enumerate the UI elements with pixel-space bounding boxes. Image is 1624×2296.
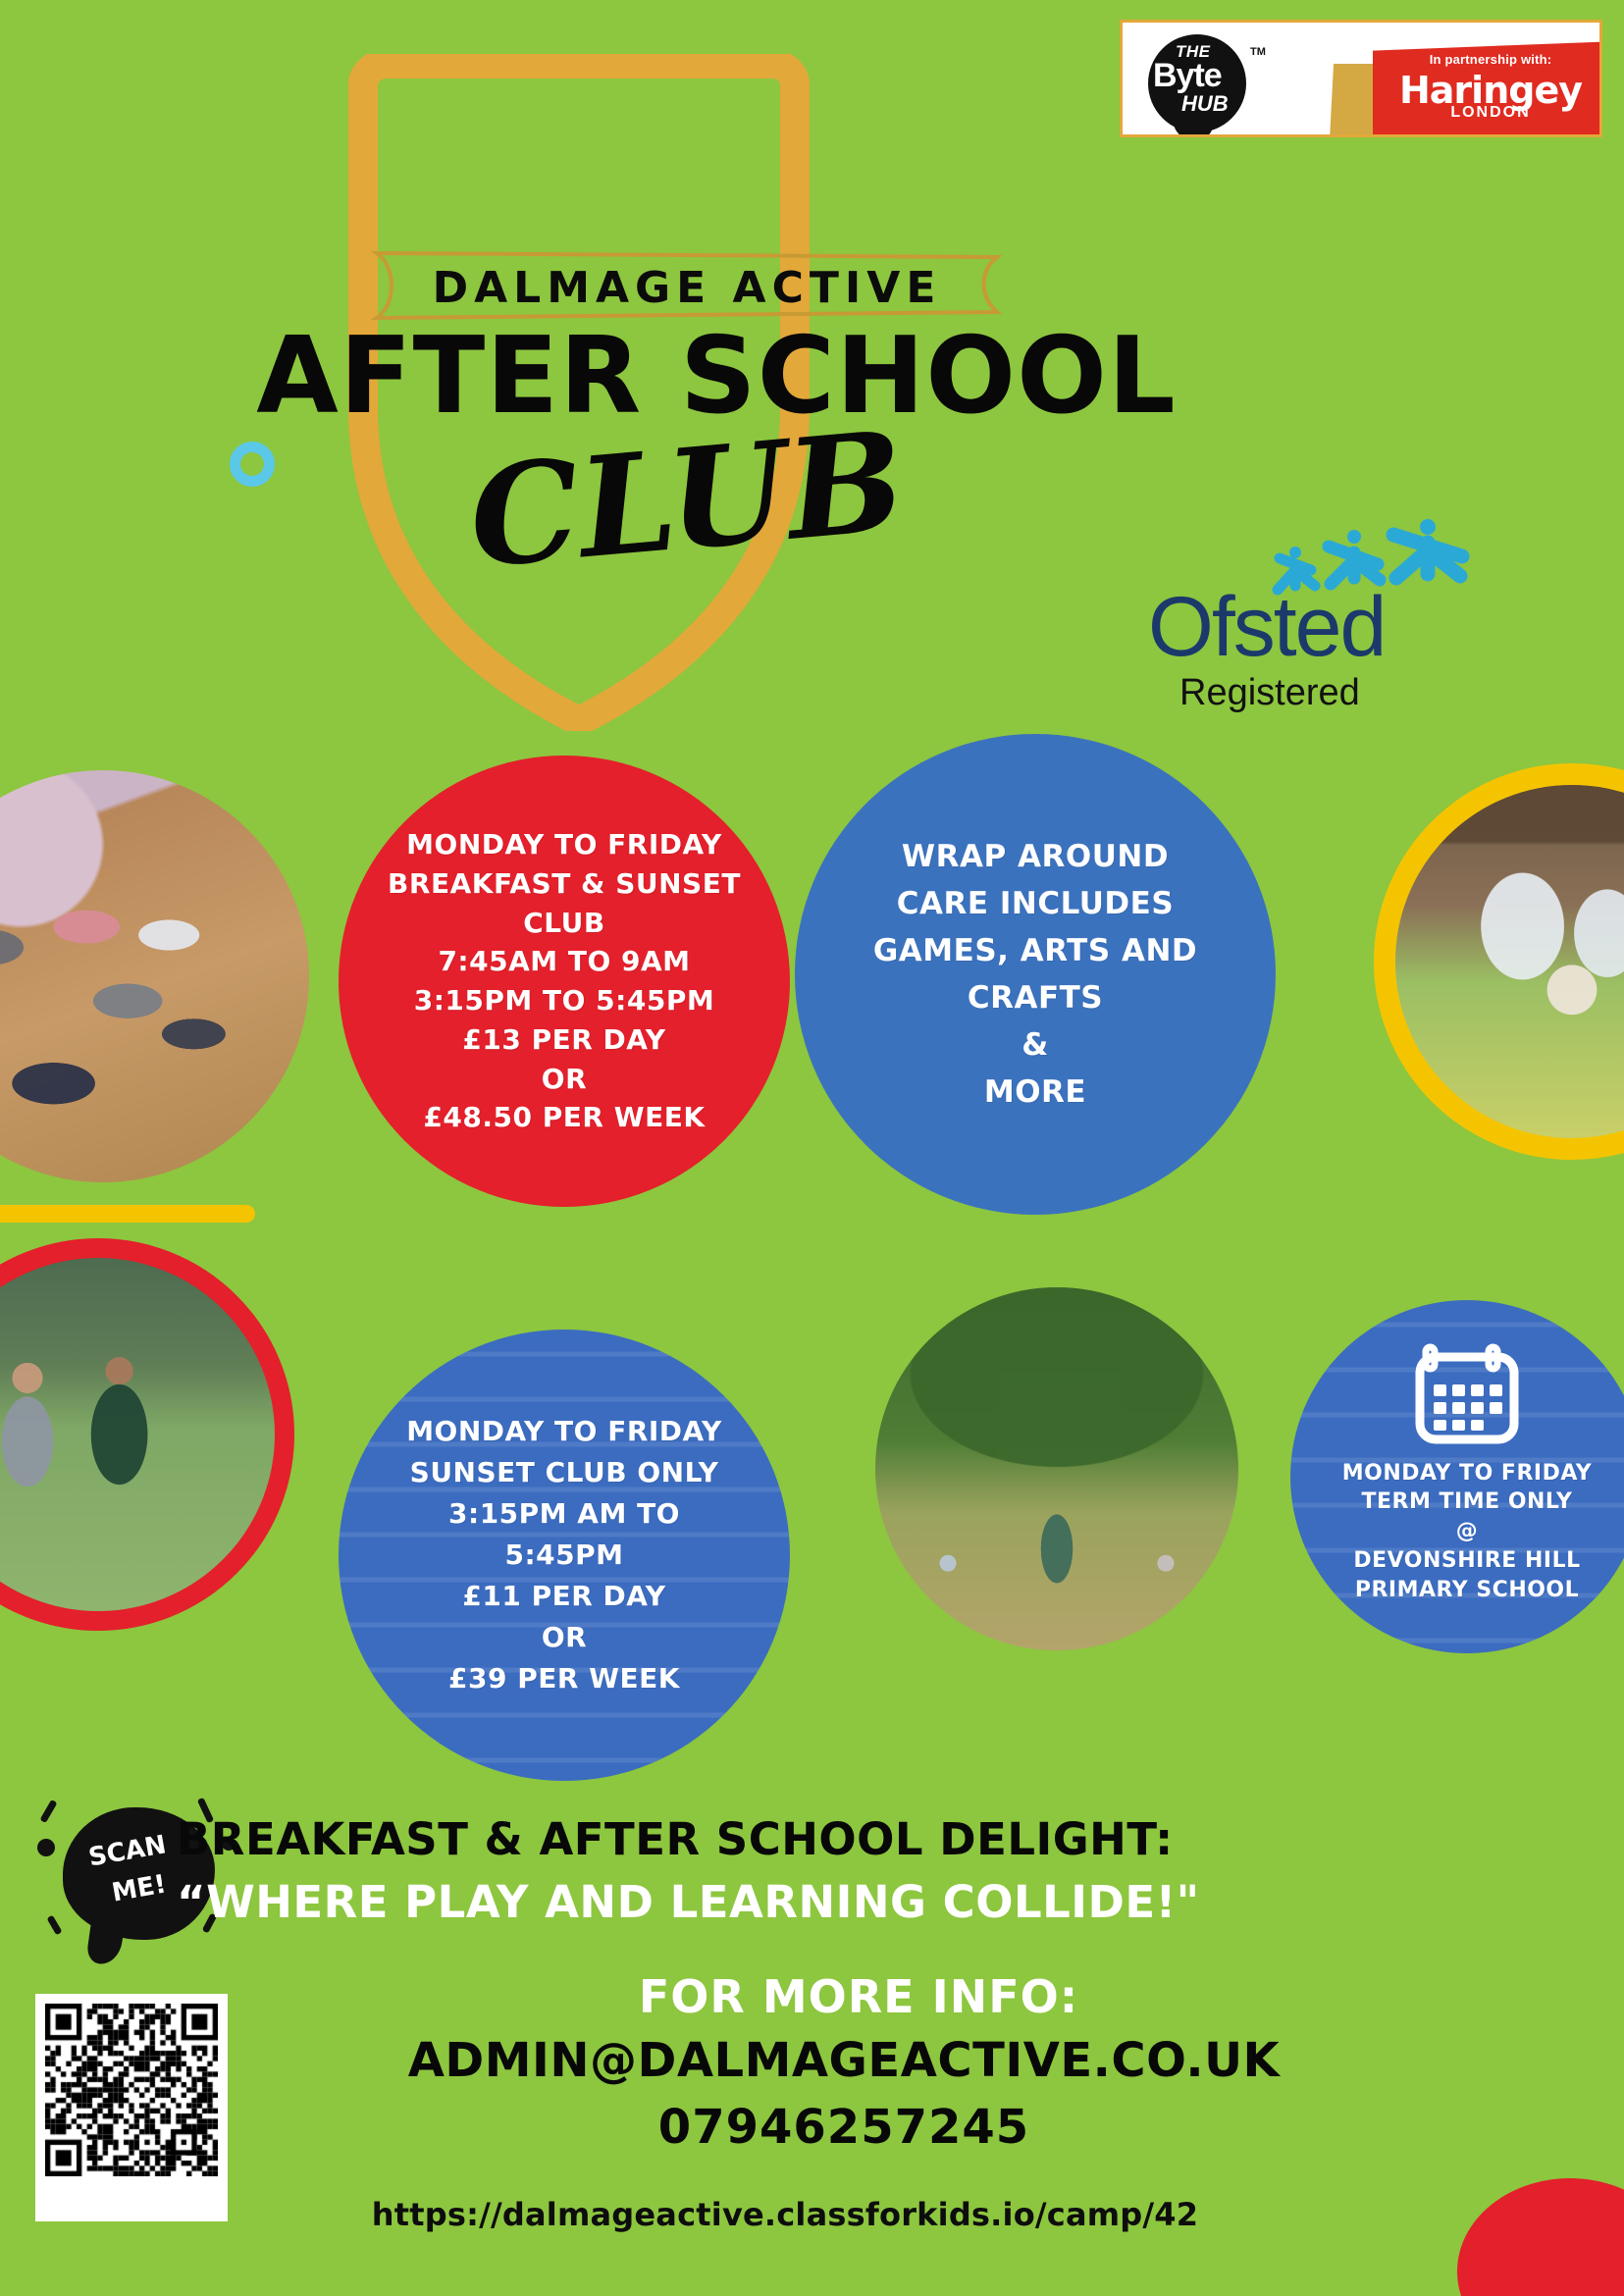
more-info-label: FOR MORE INFO: [294,1970,1423,2023]
trademark-icon: TM [1250,46,1266,58]
byte-hub-hub-text: HUB [1181,91,1229,117]
info-line: OR [388,1060,741,1099]
ofsted-registered-logo: Ofsted Registered [1148,525,1472,711]
partner-logo-bar: THE Byte HUB TM In partnership with: Har… [1120,20,1602,137]
contact-phone[interactable]: 07946257245 [245,2100,1442,2155]
page-title-main: AFTER SCHOOL [226,324,1207,430]
info-line: £13 PER DAY [388,1020,741,1060]
poster-root: THE Byte HUB TM In partnership with: Har… [0,0,1624,2296]
info-circle-text: MONDAY TO FRIDAYSUNSET CLUB ONLY3:15PM A… [391,1411,738,1699]
spark-icon [37,1839,55,1856]
red-corner-decoration [1457,2178,1624,2296]
info-line: £48.50 PER WEEK [388,1098,741,1137]
info-line: 5:45PM [406,1535,722,1576]
info-line: SUNSET CLUB ONLY [406,1452,722,1493]
info-line: MONDAY TO FRIDAY [406,1411,722,1452]
photo-detail [0,1258,275,1611]
info-line: OR [406,1617,722,1658]
info-line: CRAFTS [873,974,1197,1021]
info-circle-text: MONDAY TO FRIDAYBREAKFAST & SUNSETCLUB7:… [372,825,757,1137]
booking-url[interactable]: https://dalmageactive.classforkids.io/ca… [245,2196,1325,2233]
blue-ring-decoration-icon [230,442,275,487]
photo-detail [1395,785,1624,1138]
info-line: MORE [873,1069,1197,1116]
contact-email[interactable]: ADMIN@DALMAGEACTIVE.CO.UK [245,2033,1442,2088]
info-line: WRAP AROUND [873,833,1197,880]
info-line: TERM TIME ONLY [1342,1487,1592,1517]
info-circle-text: MONDAY TO FRIDAYTERM TIME ONLY@DEVONSHIR… [1327,1459,1607,1604]
page-title-kicker: DALMAGE ACTIVE [363,263,1011,313]
haringey-london-logo: In partnership with: Haringey LONDON [1373,41,1602,137]
info-line: BREAKFAST & SUNSET [388,864,741,904]
info-line: MONDAY TO FRIDAY [388,825,741,864]
ofsted-wordmark: Ofsted [1148,579,1442,676]
byte-hub-byte-text: Byte [1153,57,1222,95]
photo-coach-with-child [0,1238,294,1631]
ofsted-registered-label: Registered [1179,672,1454,714]
info-line: 3:15PM AM TO [406,1493,722,1535]
info-line: DEVONSHIRE HILL [1342,1546,1592,1576]
yellow-swoosh-decoration [0,1205,255,1223]
info-line: MONDAY TO FRIDAY [1342,1459,1592,1488]
info-line: CLUB [388,904,741,943]
partnership-label: In partnership with: [1373,52,1602,67]
info-line: CARE INCLUDES [873,880,1197,927]
scan-me-tail-shape [85,1921,125,1966]
photo-detail [0,770,309,1182]
haringey-wordmark: Haringey [1373,73,1602,108]
info-line: & [873,1021,1197,1069]
info-line: £11 PER DAY [406,1576,722,1617]
byte-hub-logo: THE Byte HUB TM [1144,30,1282,132]
info-line: £39 PER WEEK [406,1658,722,1699]
photo-group-under-tree [875,1287,1238,1650]
info-circle-breakfast-sunset-price: MONDAY TO FRIDAYBREAKFAST & SUNSETCLUB7:… [339,756,790,1207]
info-circle-sunset-only-price: MONDAY TO FRIDAYSUNSET CLUB ONLY3:15PM A… [339,1330,790,1781]
qr-code[interactable] [35,1994,228,2221]
info-line: GAMES, ARTS AND [873,927,1197,974]
qr-code-canvas[interactable] [45,2004,218,2176]
info-circle-term-time-location: MONDAY TO FRIDAYTERM TIME ONLY@DEVONSHIR… [1290,1300,1624,1653]
info-line: 7:45AM TO 9AM [388,942,741,981]
photo-children-drawing [0,770,309,1182]
spark-icon [46,1915,62,1936]
photo-detail [875,1287,1238,1650]
info-line: @ [1342,1517,1592,1546]
info-line: PRIMARY SCHOOL [1342,1576,1592,1605]
tagline-primary: BREAKFAST & AFTER SCHOOL DELIGHT: [177,1813,1305,1865]
spark-icon [39,1800,57,1823]
tagline-secondary: “WHERE PLAY AND LEARNING COLLIDE!" [177,1876,1335,1928]
photo-girl-outdoors [1374,763,1624,1160]
info-circle-wrap-around-care: WRAP AROUNDCARE INCLUDESGAMES, ARTS ANDC… [795,734,1276,1215]
info-line: 3:15PM TO 5:45PM [388,981,741,1020]
info-circle-text: WRAP AROUNDCARE INCLUDESGAMES, ARTS ANDC… [858,833,1213,1116]
calendar-icon [1414,1343,1520,1445]
